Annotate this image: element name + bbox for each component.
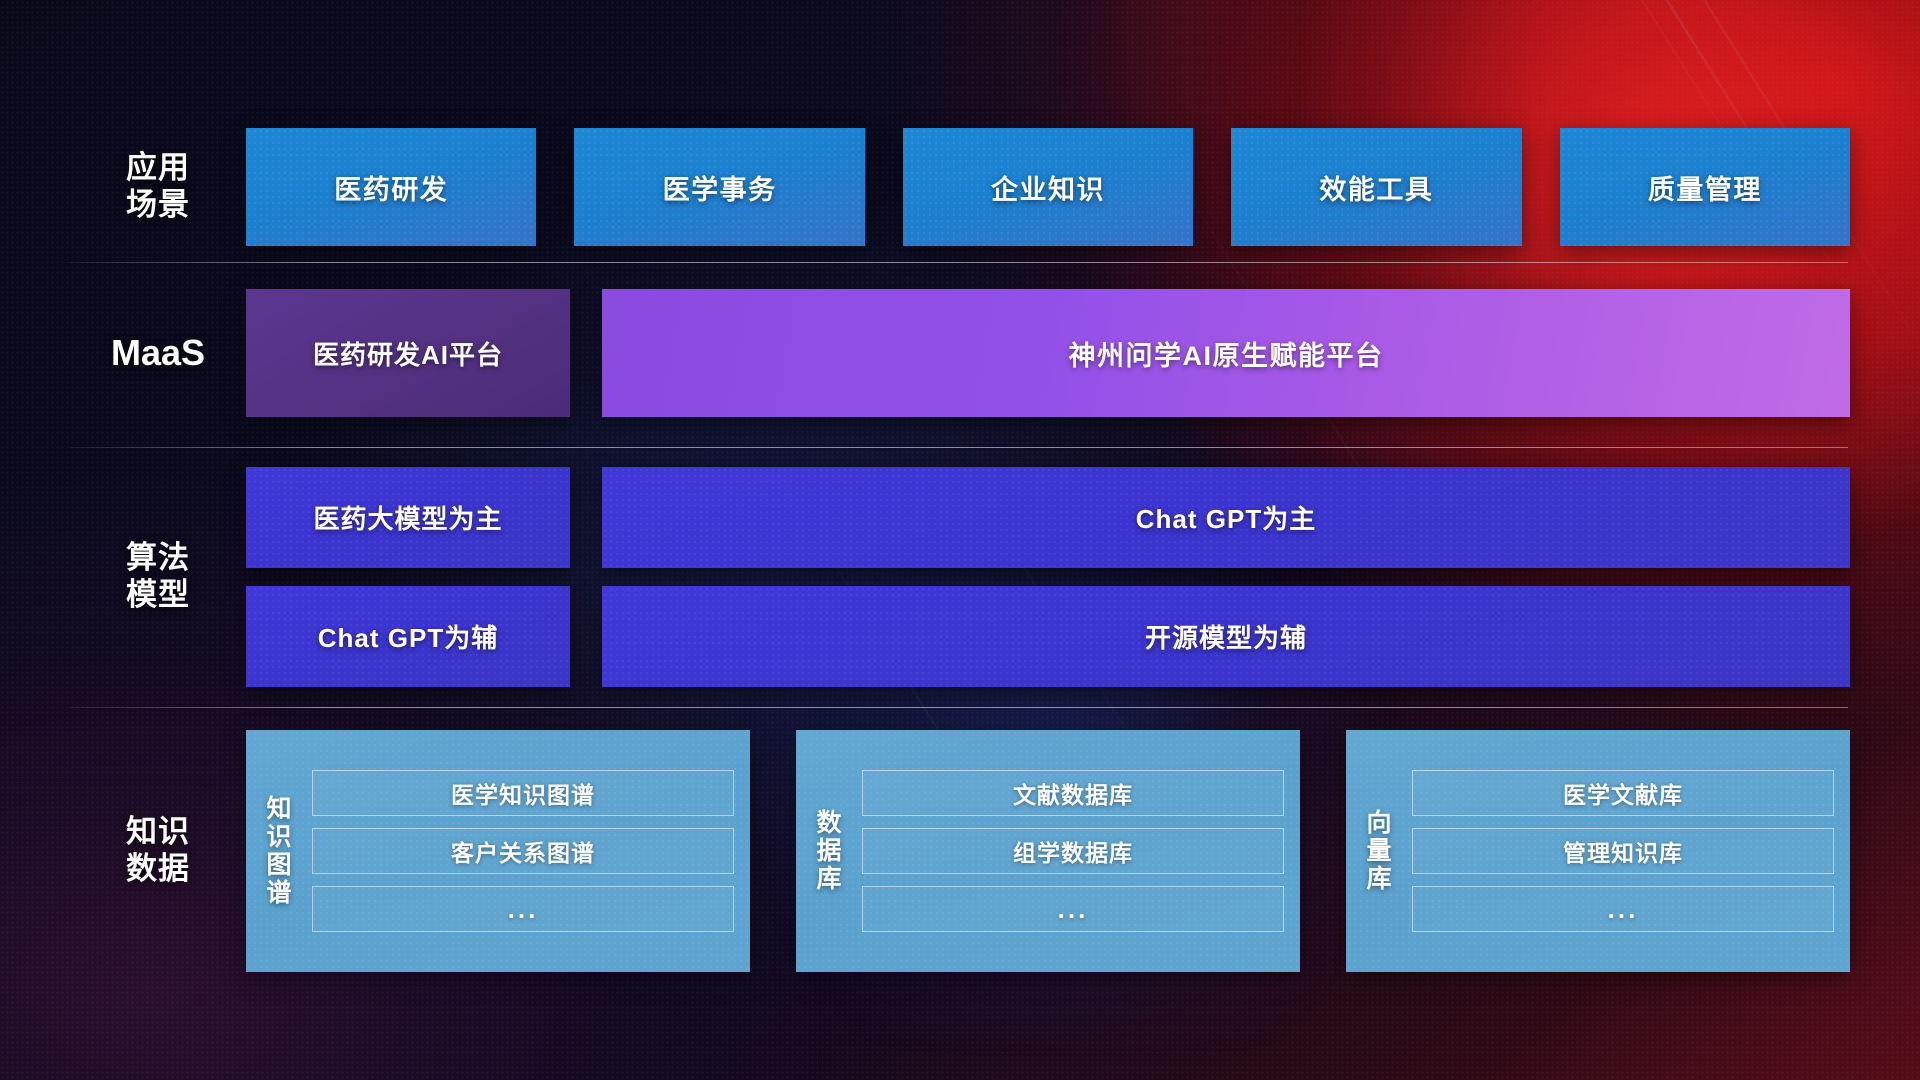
layer-label-application: 应用 场景 <box>70 150 246 223</box>
knowledge-group-label: 数据库 <box>796 730 858 972</box>
layer-label-line: 算法 <box>70 540 246 577</box>
maas-box-label: 医药研发AI平台 <box>313 335 503 372</box>
divider-maas-algorithm <box>70 447 1848 448</box>
knowledge-item-more[interactable]: ... <box>862 886 1284 932</box>
knowledge-item-label: 组学数据库 <box>1013 834 1133 868</box>
knowledge-group-label-text: 知识图谱 <box>263 795 291 907</box>
layer-label-line: 数据 <box>70 851 246 888</box>
knowledge-group-row: 知识图谱 医学知识图谱 客户关系图谱 ... 数据库 <box>246 730 1850 972</box>
knowledge-item[interactable]: 文献数据库 <box>862 770 1284 816</box>
layer-algorithm: 算法 模型 医药大模型为主 Chat GPT为主 Chat GPT为辅 开源模型… <box>70 467 1850 687</box>
knowledge-item[interactable]: 组学数据库 <box>862 828 1284 874</box>
architecture-diagram: 应用 场景 医药研发 医学事务 企业知识 效能工具 质量管理 MaaS <box>0 0 1920 1080</box>
algo-box-chatgpt-secondary[interactable]: Chat GPT为辅 <box>246 586 570 687</box>
layer-label-maas: MaaS <box>70 332 246 374</box>
knowledge-item-list: 医学文献库 管理知识库 ... <box>1408 730 1850 972</box>
knowledge-item-label: 管理知识库 <box>1563 834 1683 868</box>
maas-box-row: 医药研发AI平台 神州问学AI原生赋能平台 <box>246 289 1850 417</box>
knowledge-item[interactable]: 医学知识图谱 <box>312 770 734 816</box>
maas-box-drug-ai-platform[interactable]: 医药研发AI平台 <box>246 289 570 417</box>
layer-label-algorithm: 算法 模型 <box>70 540 246 613</box>
layer-application: 应用 场景 医药研发 医学事务 企业知识 效能工具 质量管理 <box>70 128 1850 246</box>
layer-label-line: 应用 <box>70 150 246 187</box>
application-box-row: 医药研发 医学事务 企业知识 效能工具 质量管理 <box>246 128 1850 246</box>
layer-knowledge: 知识 数据 知识图谱 医学知识图谱 客户关系图谱 ... <box>70 730 1850 972</box>
algo-box-label: 开源模型为辅 <box>1145 618 1307 655</box>
layer-label-knowledge: 知识 数据 <box>70 814 246 887</box>
knowledge-item-label: ... <box>1058 894 1089 925</box>
knowledge-group-label: 向量库 <box>1346 730 1408 972</box>
app-box-label: 医药研发 <box>334 168 448 207</box>
knowledge-item-label: 医学知识图谱 <box>451 776 595 810</box>
divider-application-maas <box>70 262 1848 263</box>
algorithm-row-secondary: Chat GPT为辅 开源模型为辅 <box>246 586 1850 687</box>
knowledge-item-label: ... <box>508 894 539 925</box>
layer-label-line: 场景 <box>70 187 246 224</box>
app-box-drug-rd[interactable]: 医药研发 <box>246 128 536 246</box>
knowledge-item-label: 文献数据库 <box>1013 776 1133 810</box>
knowledge-item-label: 客户关系图谱 <box>451 834 595 868</box>
layer-label-line: 知识 <box>70 814 246 851</box>
app-box-label: 效能工具 <box>1319 168 1433 207</box>
knowledge-group-graph[interactable]: 知识图谱 医学知识图谱 客户关系图谱 ... <box>246 730 750 972</box>
algo-box-label: 医药大模型为主 <box>313 499 502 536</box>
knowledge-item-more[interactable]: ... <box>312 886 734 932</box>
layer-label-line: MaaS <box>70 332 246 374</box>
knowledge-item[interactable]: 管理知识库 <box>1412 828 1834 874</box>
divider-algorithm-knowledge <box>70 707 1848 708</box>
knowledge-item-list: 医学知识图谱 客户关系图谱 ... <box>308 730 750 972</box>
app-box-label: 医学事务 <box>663 168 777 207</box>
app-box-label: 质量管理 <box>1648 168 1762 207</box>
app-box-efficiency-tools[interactable]: 效能工具 <box>1231 128 1521 246</box>
knowledge-group-label-text: 向量库 <box>1363 809 1391 893</box>
knowledge-group-label: 知识图谱 <box>246 730 308 972</box>
layer-label-line: 模型 <box>70 577 246 614</box>
knowledge-item[interactable]: 客户关系图谱 <box>312 828 734 874</box>
algo-box-pharma-llm-primary[interactable]: 医药大模型为主 <box>246 467 570 568</box>
knowledge-item-label: 医学文献库 <box>1563 776 1683 810</box>
layer-maas: MaaS 医药研发AI平台 神州问学AI原生赋能平台 <box>70 289 1850 417</box>
app-box-label: 企业知识 <box>991 168 1105 207</box>
app-box-enterprise-knowledge[interactable]: 企业知识 <box>903 128 1193 246</box>
knowledge-item-label: ... <box>1608 894 1639 925</box>
algo-box-chatgpt-primary[interactable]: Chat GPT为主 <box>602 467 1850 568</box>
algorithm-rows: 医药大模型为主 Chat GPT为主 Chat GPT为辅 开源模型为辅 <box>246 467 1850 687</box>
knowledge-item[interactable]: 医学文献库 <box>1412 770 1834 816</box>
knowledge-group-vector[interactable]: 向量库 医学文献库 管理知识库 ... <box>1346 730 1850 972</box>
maas-box-label: 神州问学AI原生赋能平台 <box>1069 334 1384 373</box>
algorithm-row-primary: 医药大模型为主 Chat GPT为主 <box>246 467 1850 568</box>
algo-box-opensource-secondary[interactable]: 开源模型为辅 <box>602 586 1850 687</box>
algo-box-label: Chat GPT为主 <box>1136 499 1316 536</box>
knowledge-item-more[interactable]: ... <box>1412 886 1834 932</box>
knowledge-group-database[interactable]: 数据库 文献数据库 组学数据库 ... <box>796 730 1300 972</box>
app-box-quality-management[interactable]: 质量管理 <box>1560 128 1850 246</box>
maas-box-shenzhou-platform[interactable]: 神州问学AI原生赋能平台 <box>602 289 1850 417</box>
knowledge-item-list: 文献数据库 组学数据库 ... <box>858 730 1300 972</box>
app-box-medical-affairs[interactable]: 医学事务 <box>574 128 864 246</box>
algo-box-label: Chat GPT为辅 <box>318 618 498 655</box>
knowledge-group-label-text: 数据库 <box>813 809 841 893</box>
